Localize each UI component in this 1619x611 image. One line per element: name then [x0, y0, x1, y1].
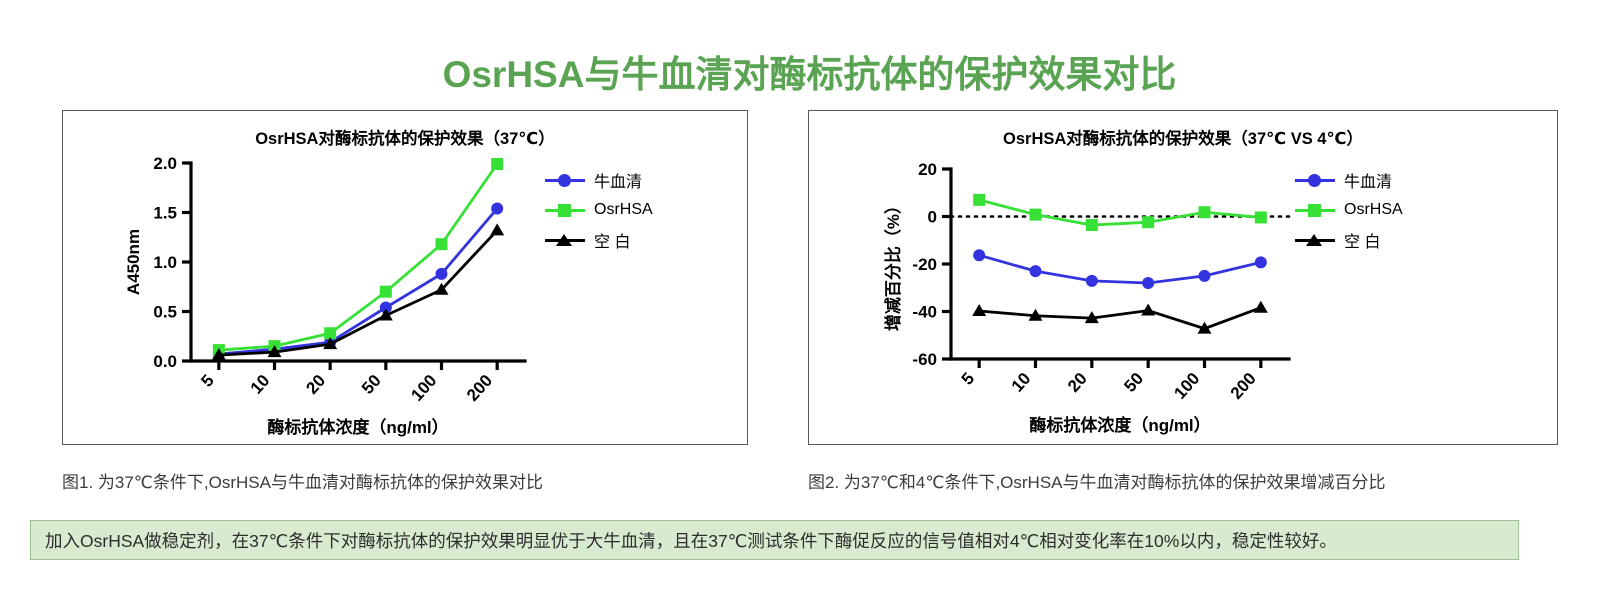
data-point-square — [436, 238, 448, 250]
y-tick-label: 0.0 — [153, 352, 177, 371]
x-tick-label: 200 — [1227, 369, 1260, 403]
y-tick-label: 20 — [918, 160, 937, 179]
y-tick-label: -40 — [912, 303, 937, 322]
legend-label-osrhsa: OsrHSA — [594, 201, 653, 219]
legend-symbol-triangle-icon — [545, 232, 585, 248]
legend-symbol-triangle-icon — [1295, 232, 1335, 248]
legend-symbol-square-icon — [1295, 202, 1335, 218]
figure-caption-left: 图1. 为37℃条件下,OsrHSA与牛血清对酶标抗体的保护效果对比 — [62, 468, 543, 493]
y-tick-label: 0.5 — [153, 303, 177, 322]
x-tick-label: 5 — [958, 369, 978, 389]
legend-symbol-circle-icon — [545, 172, 585, 188]
legend-item-niuxueqing: 牛血清 — [545, 168, 653, 192]
x-tick-label: 100 — [1170, 369, 1203, 403]
y-tick-label: -60 — [912, 350, 937, 369]
summary-banner: 加入OsrHSA做稳定剂，在37℃条件下对酶标抗体的保护效果明显优于大牛血清，且… — [30, 520, 1519, 560]
legend-item-osrhsa: OsrHSA — [545, 201, 653, 219]
data-point-square — [1142, 216, 1154, 228]
data-point-square — [1086, 219, 1098, 231]
data-point-circle — [1086, 275, 1098, 287]
chart-panel-left: OsrHSA对酶标抗体的保护效果（37℃） 0.00.51.01.52.0510… — [62, 110, 748, 445]
legend-item-osrhsa: OsrHSA — [1295, 201, 1403, 219]
data-point-triangle — [1141, 304, 1155, 316]
x-axis-label: 酶标抗体浓度（ng/ml） — [1029, 415, 1210, 435]
legend-label-osrhsa: OsrHSA — [1344, 201, 1403, 219]
x-tick-label: 10 — [1008, 369, 1035, 396]
data-point-triangle — [1254, 301, 1268, 313]
y-tick-label: 1.5 — [153, 204, 177, 223]
data-point-square — [1030, 209, 1042, 221]
data-point-circle — [1255, 256, 1267, 268]
legend-symbol-circle-icon — [1295, 172, 1335, 188]
legend-label-kongbai: 空 白 — [594, 228, 630, 252]
legend-label-niuxueqing: 牛血清 — [1344, 168, 1392, 192]
data-point-circle — [491, 203, 503, 215]
y-tick-label: -20 — [912, 255, 937, 274]
data-point-square — [491, 158, 503, 170]
page-title: OsrHSA与牛血清对酶标抗体的保护效果对比 — [0, 44, 1619, 98]
data-point-square — [1255, 211, 1267, 223]
data-point-square — [1199, 206, 1211, 218]
x-tick-label: 50 — [1120, 369, 1147, 396]
y-tick-label: 1.0 — [153, 253, 177, 272]
x-axis-label: 酶标抗体浓度（ng/ml） — [267, 417, 448, 437]
x-tick-label: 50 — [358, 371, 385, 398]
x-tick-label: 100 — [407, 371, 440, 405]
data-point-circle — [1199, 270, 1211, 282]
chart-left-legend: 牛血清 OsrHSA 空 白 — [545, 168, 653, 261]
x-tick-label: 20 — [302, 371, 329, 398]
legend-symbol-square-icon — [545, 202, 585, 218]
legend-item-kongbai: 空 白 — [545, 228, 653, 252]
data-point-circle — [1030, 265, 1042, 277]
data-point-circle — [436, 268, 448, 280]
x-tick-label: 10 — [247, 371, 274, 398]
chart-right-plot: -60-40-200205102050100200酶标抗体浓度（ng/ml）增减… — [809, 111, 1559, 446]
data-point-triangle — [972, 304, 986, 316]
chart-panel-right: OsrHSA对酶标抗体的保护效果（37℃ VS 4℃） -60-40-20020… — [808, 110, 1558, 445]
y-axis-label: A450nm — [124, 229, 143, 295]
data-point-circle — [973, 249, 985, 261]
x-tick-label: 200 — [463, 371, 496, 405]
x-tick-label: 5 — [197, 371, 217, 391]
legend-label-kongbai: 空 白 — [1344, 228, 1380, 252]
data-point-square — [973, 194, 985, 206]
data-point-circle — [1142, 277, 1154, 289]
chart-right-legend: 牛血清 OsrHSA 空 白 — [1295, 168, 1403, 261]
y-tick-label: 0 — [928, 208, 937, 227]
x-tick-label: 20 — [1064, 369, 1091, 396]
chart-left-plot: 0.00.51.01.52.05102050100200酶标抗体浓度（ng/ml… — [63, 111, 749, 446]
y-tick-label: 2.0 — [153, 154, 177, 173]
data-point-square — [380, 286, 392, 298]
figure-caption-right: 图2. 为37℃和4℃条件下,OsrHSA与牛血清对酶标抗体的保护效果增减百分比 — [808, 468, 1386, 493]
y-axis-label: 增减百分比（%） — [883, 197, 903, 331]
legend-item-kongbai: 空 白 — [1295, 228, 1403, 252]
data-point-triangle — [490, 223, 504, 235]
legend-label-niuxueqing: 牛血清 — [594, 168, 642, 192]
legend-item-niuxueqing: 牛血清 — [1295, 168, 1403, 192]
